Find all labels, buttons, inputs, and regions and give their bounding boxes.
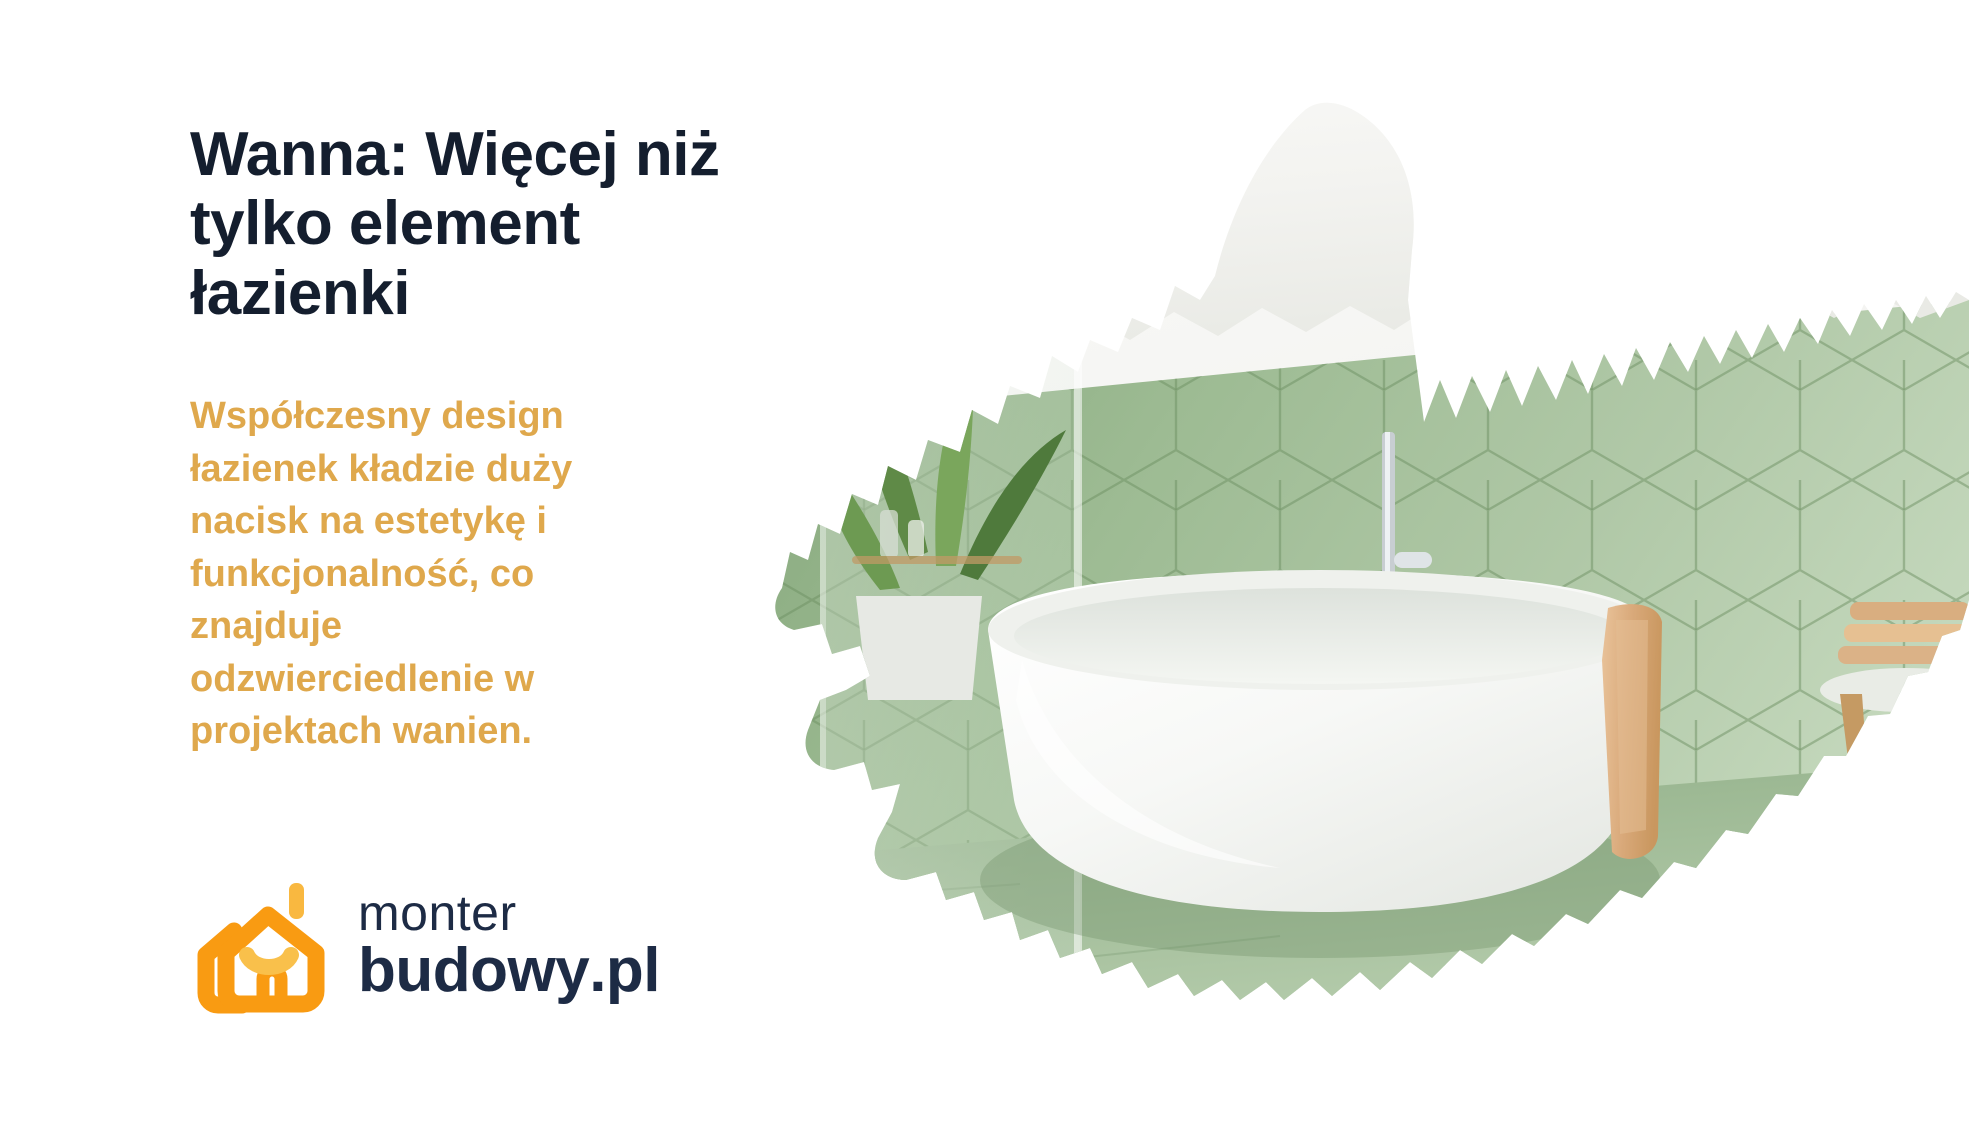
- bathroom-scene-svg: [760, 0, 1969, 1030]
- bathroom-bathtub-photo: [760, 0, 1969, 1030]
- logo-word-budowy: budowy: [358, 936, 589, 1005]
- page-title: Wanna: Więcej niż tylko element łazienki: [190, 120, 790, 328]
- logo-word-budowy-pl: budowy.pl: [358, 940, 660, 1002]
- bathtub: [980, 570, 1660, 958]
- lead-paragraph: Współczesny design łazienek kładzie duży…: [190, 390, 590, 757]
- towel: [1602, 604, 1662, 859]
- masked-scene: [760, 0, 1969, 1030]
- text-column: Wanna: Więcej niż tylko element łazienki…: [190, 120, 830, 757]
- logo-word-tld: .pl: [589, 936, 660, 1005]
- brand-logo[interactable]: monter budowy.pl: [190, 875, 660, 1015]
- logo-wordmark: monter budowy.pl: [358, 888, 660, 1002]
- promo-banner: Wanna: Więcej niż tylko element łazienki…: [0, 0, 1969, 1125]
- logo-word-monter: monter: [358, 888, 660, 938]
- house-smile-icon: [190, 875, 340, 1015]
- ceiling-light: [1227, 65, 1257, 95]
- tile-top-edge: [760, 0, 1969, 356]
